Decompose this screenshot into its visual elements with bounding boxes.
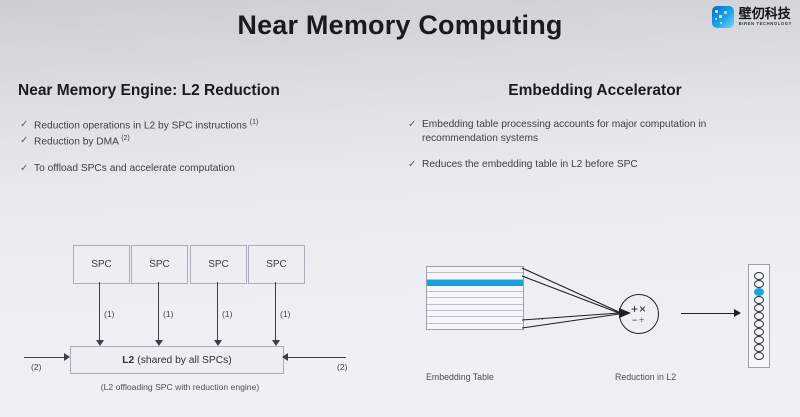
arrow-line-down [217, 282, 218, 342]
vector-dot [754, 352, 764, 360]
diagram-caption: (L2 offloading SPC with reduction engine… [0, 382, 360, 392]
vector-dot [754, 328, 764, 336]
embedding-row [427, 324, 523, 329]
l2-label: L2 [122, 355, 134, 366]
reduction-ops-bottom: −÷ [632, 316, 646, 325]
arrow-line-down [158, 282, 159, 342]
list-item-text: Reduces the embedding table in L2 before… [422, 158, 778, 172]
list-item: ✓ Reduction by DMA (2) [20, 134, 360, 149]
vector-dot [754, 304, 764, 312]
vector-dot-selected [754, 288, 764, 296]
vector-dot [754, 296, 764, 304]
left-bullet-list: ✓ Reduction operations in L2 by SPC inst… [20, 118, 360, 176]
arrow-line-left-in [24, 357, 65, 358]
reduction-label: Reduction in L2 [615, 372, 676, 382]
logo-text-en: BIREN TECHNOLOGY [739, 22, 792, 26]
arrow-line-down [99, 282, 100, 342]
list-item: ✓ Reduces the embedding table in L2 befo… [408, 158, 778, 172]
l2-reduction-diagram: SPC SPC SPC SPC (1) (1) (1) (1) L2 (shar… [0, 232, 395, 402]
vector-dot [754, 280, 764, 288]
brand-logo: 壁仞科技 BIREN TECHNOLOGY [712, 6, 792, 28]
arrow-head-right-icon [64, 353, 70, 361]
check-icon: ✓ [20, 134, 34, 148]
check-icon: ✓ [20, 118, 34, 132]
page-title: Near Memory Computing [0, 10, 800, 41]
right-section-heading: Embedding Accelerator [410, 82, 780, 100]
footnote-marker: (2) [121, 135, 130, 142]
reduction-operator-icon: +× −÷ [619, 294, 659, 334]
list-item: ✓ Reduction operations in L2 by SPC inst… [20, 118, 360, 133]
vector-dot [754, 344, 764, 352]
spc-box: SPC [131, 245, 188, 284]
vector-dot [754, 312, 764, 320]
arrow-head-left-icon [282, 353, 288, 361]
arrow-line-down [275, 282, 276, 342]
list-item: ✓ Embedding table processing accounts fo… [408, 118, 778, 146]
check-icon: ✓ [20, 162, 34, 176]
slide-root: Near Memory Computing 壁仞科技 BIREN TECHNOL… [0, 0, 800, 417]
logo-text-cn: 壁仞科技 [739, 7, 792, 20]
arrow-line-right-in [288, 357, 346, 358]
check-icon: ✓ [408, 158, 422, 172]
l2-sublabel: (shared by all SPCs) [137, 355, 231, 366]
reduction-ops-top: +× [631, 303, 647, 315]
arrow-line-output [681, 313, 735, 314]
embedding-table-graphic [426, 266, 524, 330]
arrow-label: (1) [104, 309, 115, 319]
arrow-label: (1) [222, 309, 233, 319]
l2-cache-box: L2 (shared by all SPCs) [70, 346, 284, 374]
list-item-text: Embedding table processing accounts for … [422, 118, 778, 146]
embedding-table-label: Embedding Table [426, 372, 494, 382]
arrow-label: (1) [163, 309, 174, 319]
vector-dot [754, 320, 764, 328]
list-item-text: Reduction by DMA (2) [34, 134, 360, 149]
spc-box: SPC [248, 245, 305, 284]
left-section-heading: Near Memory Engine: L2 Reduction [18, 82, 280, 100]
spc-box: SPC [190, 245, 247, 284]
arrow-label: (2) [337, 362, 348, 372]
list-item-text: To offload SPCs and accelerate computati… [34, 162, 360, 176]
arrow-label: (2) [31, 362, 42, 372]
list-item: ✓ To offload SPCs and accelerate computa… [20, 162, 360, 176]
arrow-label: (1) [280, 309, 291, 319]
check-icon: ✓ [408, 118, 422, 132]
vector-dot [754, 336, 764, 344]
footnote-marker: (1) [250, 119, 259, 126]
right-bullet-list: ✓ Embedding table processing accounts fo… [408, 118, 778, 172]
vector-dot [754, 272, 764, 280]
list-item-text: Reduction operations in L2 by SPC instru… [34, 118, 360, 133]
table-ellipsis: ... [534, 312, 545, 322]
result-vector-graphic [748, 264, 770, 368]
embedding-accelerator-diagram: ... +× −÷ Embedding Table Reduction in L… [400, 232, 800, 402]
spc-box: SPC [73, 245, 130, 284]
logo-mark-icon [712, 6, 734, 28]
arrow-head-right-icon [734, 309, 741, 317]
